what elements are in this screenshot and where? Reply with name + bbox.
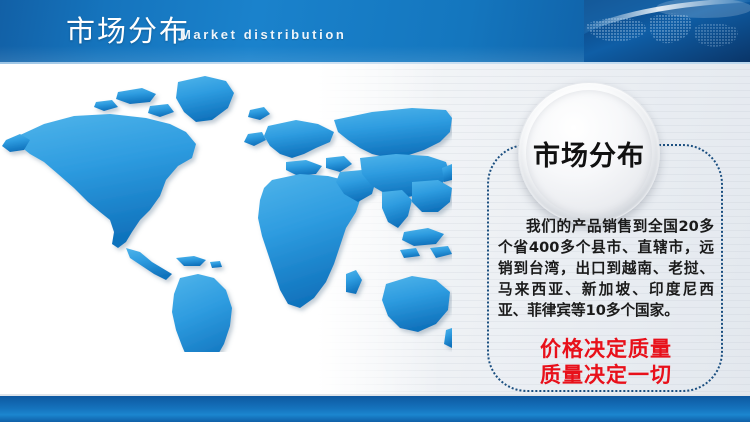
- footer-bar: [0, 396, 750, 422]
- page-title-en: Market distribution: [180, 26, 346, 44]
- panel-body-text: 我们的产品销售到全国20多个省400多个县市、直辖市，远销到台湾，出口到越南、老…: [498, 216, 714, 321]
- circle-badge-inner: 市场分布: [526, 90, 652, 216]
- slogan-line-2: 质量决定一切: [498, 362, 714, 388]
- circle-badge-label: 市场分布: [533, 134, 645, 173]
- globe-world-icon: [584, 0, 750, 62]
- slogan-line-1: 价格决定质量: [498, 336, 714, 362]
- header-band: 市场分布 Market distribution: [0, 0, 750, 62]
- page-title-zh: 市场分布: [66, 14, 190, 48]
- world-map-icon: [0, 62, 452, 352]
- footer-white-strip: [0, 422, 750, 440]
- slide-canvas: 市场分布 Market distribution: [0, 0, 750, 440]
- circle-badge: 市场分布: [518, 82, 660, 224]
- panel-slogan: 价格决定质量 质量决定一切: [498, 336, 714, 388]
